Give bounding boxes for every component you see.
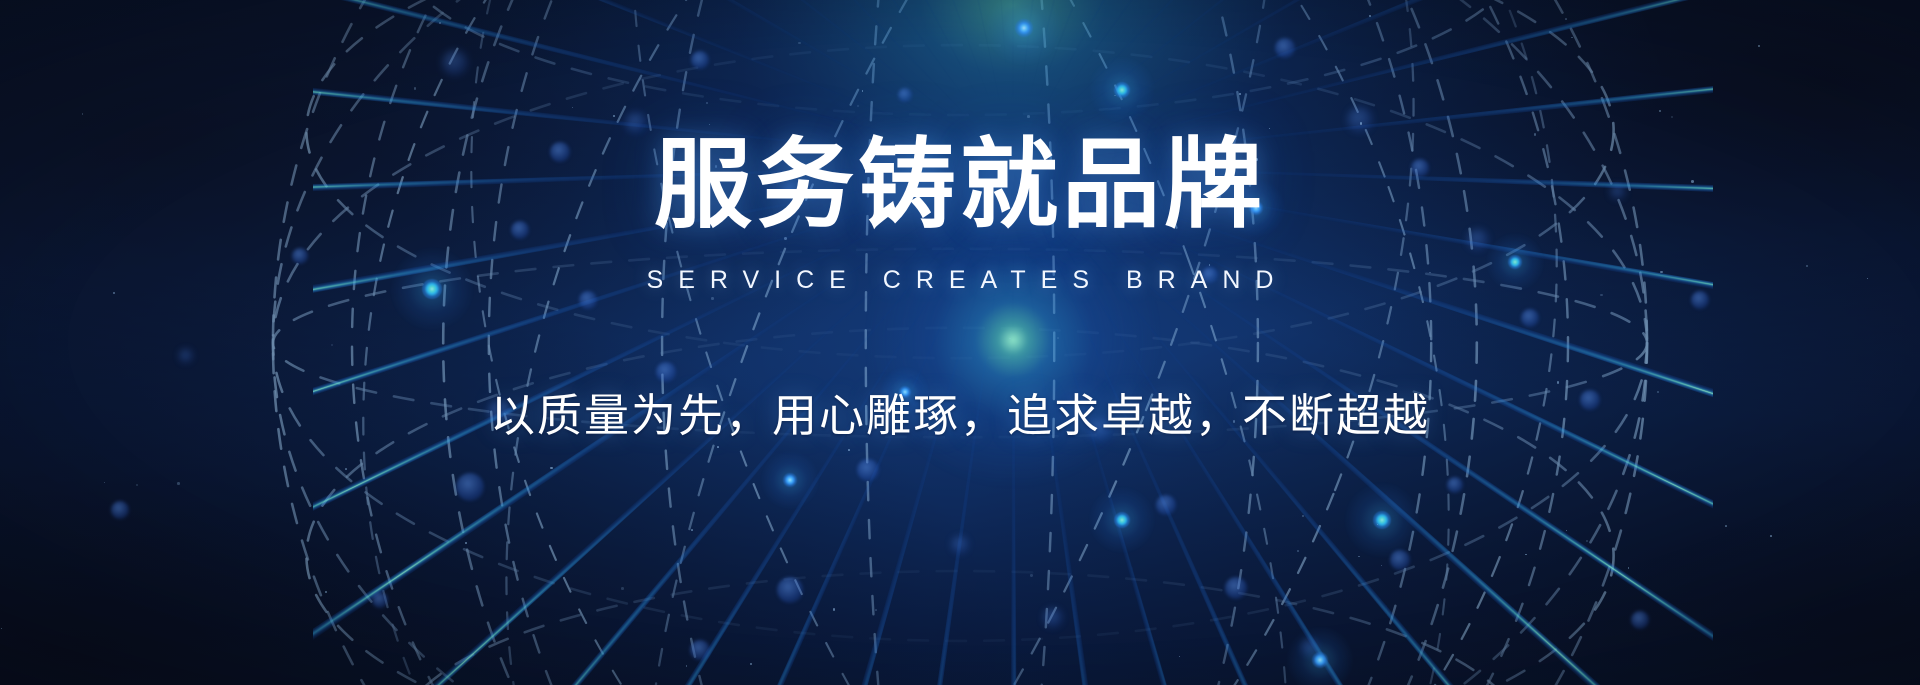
hero-banner: 服务铸就品牌 SERVICE CREATES BRAND 以质量为先，用心雕琢，…: [0, 0, 1920, 685]
globe-wireframe-graphic: [200, 0, 1720, 685]
